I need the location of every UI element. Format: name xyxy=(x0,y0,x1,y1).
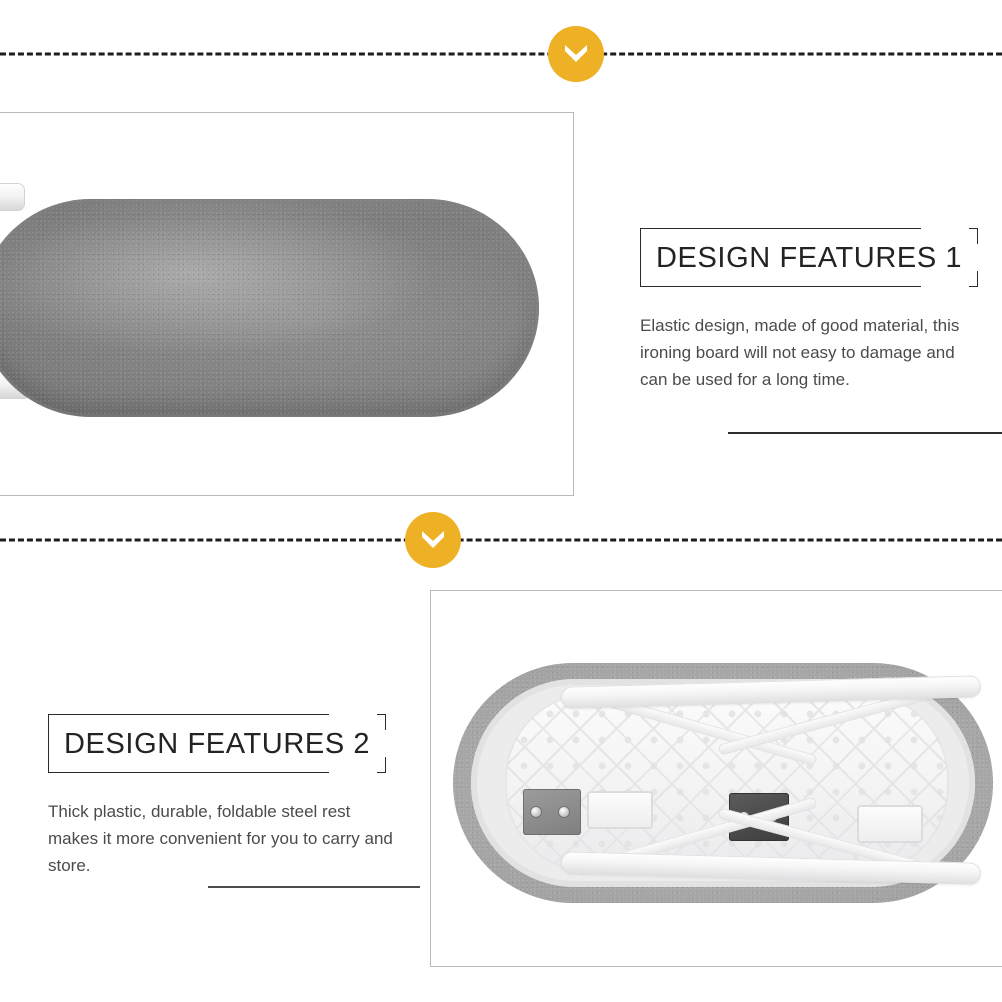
photo-stage xyxy=(0,113,573,495)
board-cover-rim xyxy=(0,199,539,417)
frame-edge xyxy=(640,228,641,287)
chevron-down-icon xyxy=(420,529,446,551)
chevron-down-badge-top[interactable] xyxy=(548,26,604,82)
chevron-down-icon xyxy=(563,43,589,65)
product-photo-panel-2 xyxy=(430,590,1002,967)
frame-edge xyxy=(977,228,978,244)
photo-stage xyxy=(431,591,1002,966)
frame-edge xyxy=(385,714,386,730)
feature-underline xyxy=(208,886,420,888)
frame-edge xyxy=(48,714,329,715)
frame-edge xyxy=(640,286,921,287)
divider-middle xyxy=(0,512,1002,568)
frame-edge xyxy=(969,286,978,287)
chevron-down-badge-middle[interactable] xyxy=(405,512,461,568)
feature-title: DESIGN FEATURES 2 xyxy=(64,727,370,761)
frame-edge xyxy=(977,271,978,287)
frame-edge xyxy=(377,714,386,715)
frame-edge xyxy=(377,772,386,773)
screw-pad xyxy=(523,789,581,835)
product-photo-panel-1 xyxy=(0,112,574,496)
frame-edge xyxy=(385,757,386,773)
feature-title: DESIGN FEATURES 1 xyxy=(656,241,962,275)
frame-edge xyxy=(969,228,978,229)
ironing-board-underside-view xyxy=(453,663,993,903)
feature-underline xyxy=(728,432,1002,434)
leg-mount-plate xyxy=(587,791,653,829)
leg-mount-plate xyxy=(857,805,923,843)
screw-icon xyxy=(531,807,541,817)
feature-title-frame: DESIGN FEATURES 2 xyxy=(48,714,386,773)
feature-block-1: DESIGN FEATURES 1 Elastic design, made o… xyxy=(640,228,980,393)
divider-top xyxy=(0,26,1002,82)
screw-icon xyxy=(559,807,569,817)
plastic-dot-pattern xyxy=(505,693,949,873)
feature-title-frame: DESIGN FEATURES 1 xyxy=(640,228,978,287)
frame-edge xyxy=(640,228,921,229)
frame-edge xyxy=(48,772,329,773)
frame-edge xyxy=(48,714,49,773)
dashed-line xyxy=(0,539,1002,542)
plastic-base xyxy=(505,693,949,873)
dashed-line xyxy=(0,53,1002,56)
ironing-board-top-view xyxy=(0,199,539,417)
infographic-page: DESIGN FEATURES 1 Elastic design, made o… xyxy=(0,0,1002,1002)
feature-description: Elastic design, made of good material, t… xyxy=(640,312,980,393)
feature-block-2: DESIGN FEATURES 2 Thick plastic, durable… xyxy=(48,714,396,879)
feature-description: Thick plastic, durable, foldable steel r… xyxy=(48,798,396,879)
